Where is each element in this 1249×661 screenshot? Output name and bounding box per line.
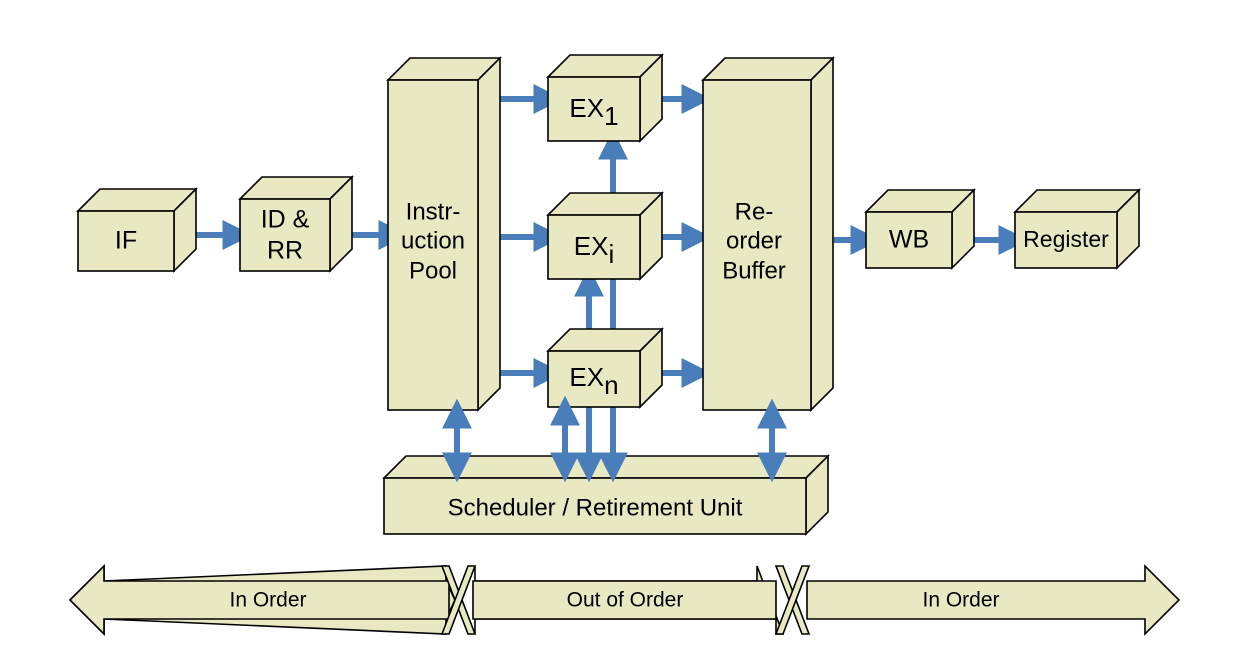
stage-scheduler-label: Scheduler / Retirement Unit <box>448 494 743 521</box>
stage-ex-n-label-subscript: n <box>604 370 618 400</box>
stage-ex-n[interactable]: EXn <box>548 329 662 407</box>
stage-if-label: IF <box>115 227 137 255</box>
stage-instruction-pool-label-line2: uction <box>401 227 465 254</box>
order-band-group: In Order Out of Order In Order <box>70 566 1179 634</box>
stage-ex-i-label-base: EX <box>574 231 609 261</box>
stage-reorder-buffer-label-line2: order <box>726 227 782 254</box>
stage-id-rr-label-line1: ID & <box>261 206 310 234</box>
stage-reorder-buffer-label-line1: Re- <box>735 198 774 225</box>
stage-ex-1-label-base: EX <box>569 93 604 123</box>
stage-ex-i-label-subscript: i <box>608 239 614 269</box>
stage-ex-1[interactable]: EX1 <box>548 55 662 141</box>
pipeline-diagram: In Order Out of Order In Order <box>0 0 1249 661</box>
stage-ex-n-label-base: EX <box>569 362 604 392</box>
stage-wb-label: WB <box>889 226 929 254</box>
stage-ex-1-label-subscript: 1 <box>604 101 618 131</box>
stage-scheduler[interactable]: Scheduler / Retirement Unit <box>384 456 828 534</box>
stage-ex-i[interactable]: EXi <box>548 193 662 279</box>
stage-wb[interactable]: WB <box>866 190 974 268</box>
band-separator-2 <box>776 566 809 634</box>
stage-reorder-buffer[interactable]: Re- order Buffer <box>703 58 833 410</box>
stage-if[interactable]: IF <box>78 189 196 271</box>
stage-instruction-pool-label-line3: Pool <box>409 257 457 284</box>
stage-reorder-buffer-label-line3: Buffer <box>722 257 786 284</box>
diagram-canvas: In Order Out of Order In Order <box>0 0 1249 661</box>
stage-instruction-pool-label-line1: Instr- <box>406 198 461 225</box>
stage-scheduler-top <box>384 456 828 478</box>
stage-id-rr[interactable]: ID & RR <box>240 177 352 271</box>
stage-instruction-pool-side <box>478 58 500 410</box>
stage-register-label: Register <box>1023 226 1109 252</box>
band-out-of-order-label: Out of Order <box>567 589 684 612</box>
stage-reorder-buffer-side <box>811 58 833 410</box>
stage-id-rr-label-line2: RR <box>267 237 303 265</box>
band-in-order-front-label: In Order <box>229 589 306 612</box>
stage-register[interactable]: Register <box>1015 190 1139 268</box>
band-in-order-back-label: In Order <box>922 589 999 612</box>
stage-instruction-pool[interactable]: Instr- uction Pool <box>388 58 500 410</box>
